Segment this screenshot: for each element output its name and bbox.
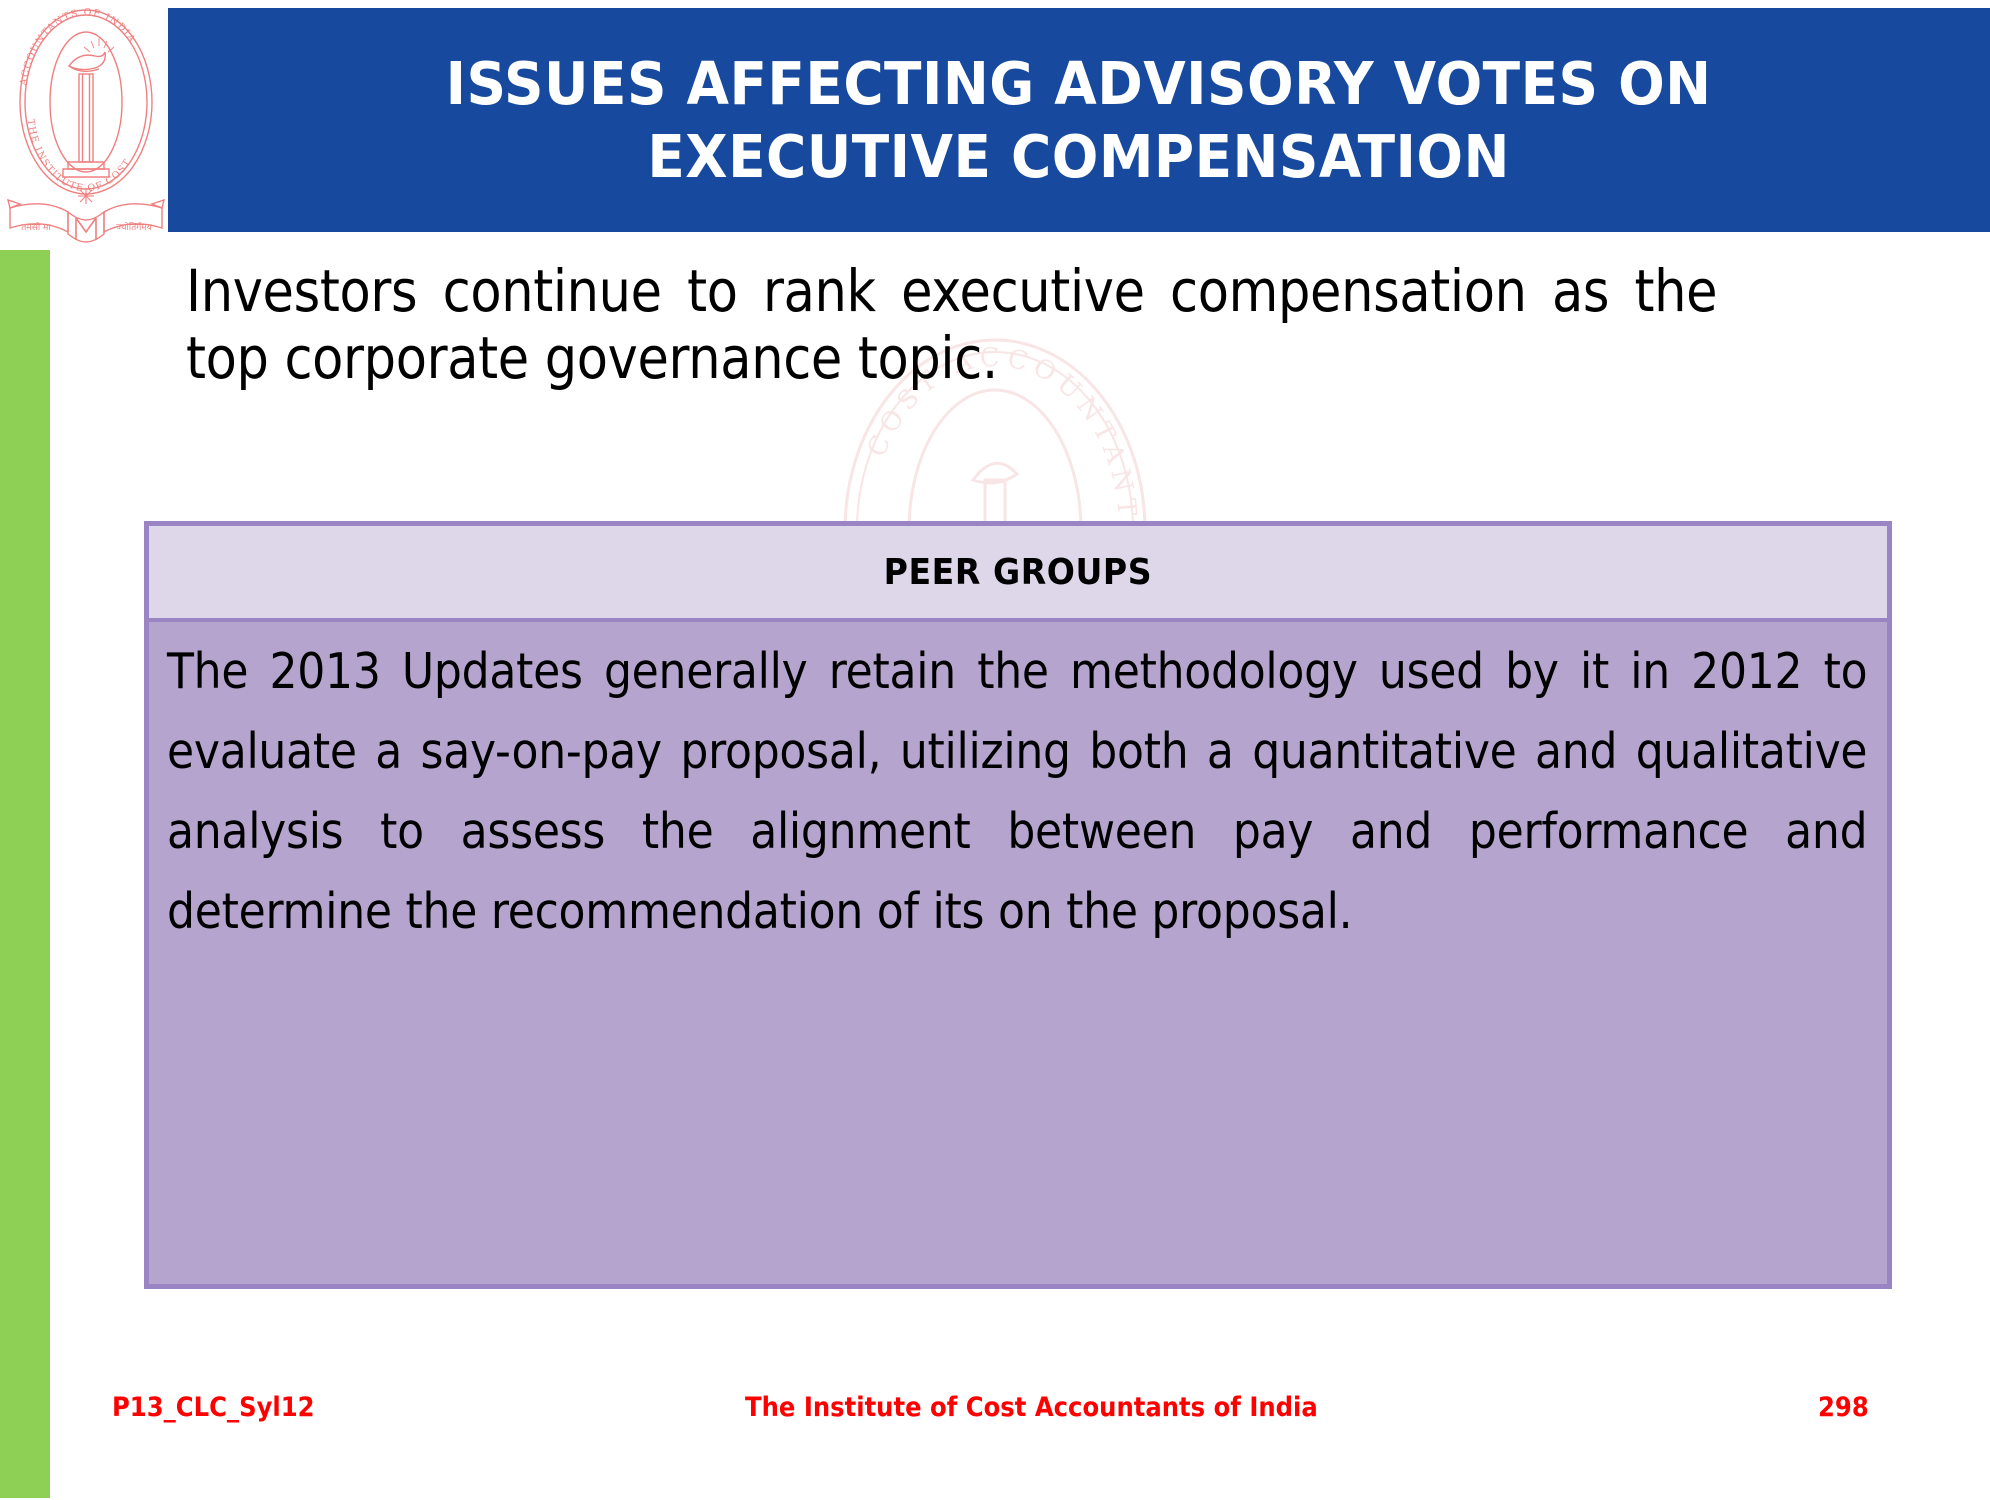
footer-page-number: 298 bbox=[1818, 1392, 1869, 1423]
icai-logo-icon: ACCOUNTANTS OF INDIA THE INSTITUTE OF CO… bbox=[6, 2, 166, 248]
intro-paragraph: Investors continue to rank executive com… bbox=[186, 258, 1717, 393]
slide-footer: P13_CLC_Syl12 The Institute of Cost Acco… bbox=[0, 1392, 1990, 1452]
peer-groups-table: PEER GROUPS The 2013 Updates generally r… bbox=[144, 521, 1892, 1289]
footer-paper-code: P13_CLC_Syl12 bbox=[112, 1392, 315, 1423]
table-body-row: The 2013 Updates generally retain the me… bbox=[149, 622, 1887, 1284]
logo-motto-right: ज्योतिर्गमय bbox=[116, 221, 153, 233]
left-accent-stripe bbox=[0, 250, 50, 1498]
logo-motto-left: तमसो मा bbox=[21, 221, 51, 233]
page-title: ISSUES AFFECTING ADVISORY VOTES ON EXECU… bbox=[446, 47, 1712, 193]
slide-title-bar: ISSUES AFFECTING ADVISORY VOTES ON EXECU… bbox=[168, 8, 1990, 232]
table-header-row: PEER GROUPS bbox=[149, 526, 1887, 622]
slide-canvas: COST ACCOUNTANTS bbox=[0, 0, 1990, 1500]
table-body-text: The 2013 Updates generally retain the me… bbox=[167, 632, 1867, 951]
table-header-label: PEER GROUPS bbox=[884, 552, 1152, 593]
footer-institute-name: The Institute of Cost Accountants of Ind… bbox=[745, 1392, 1318, 1423]
